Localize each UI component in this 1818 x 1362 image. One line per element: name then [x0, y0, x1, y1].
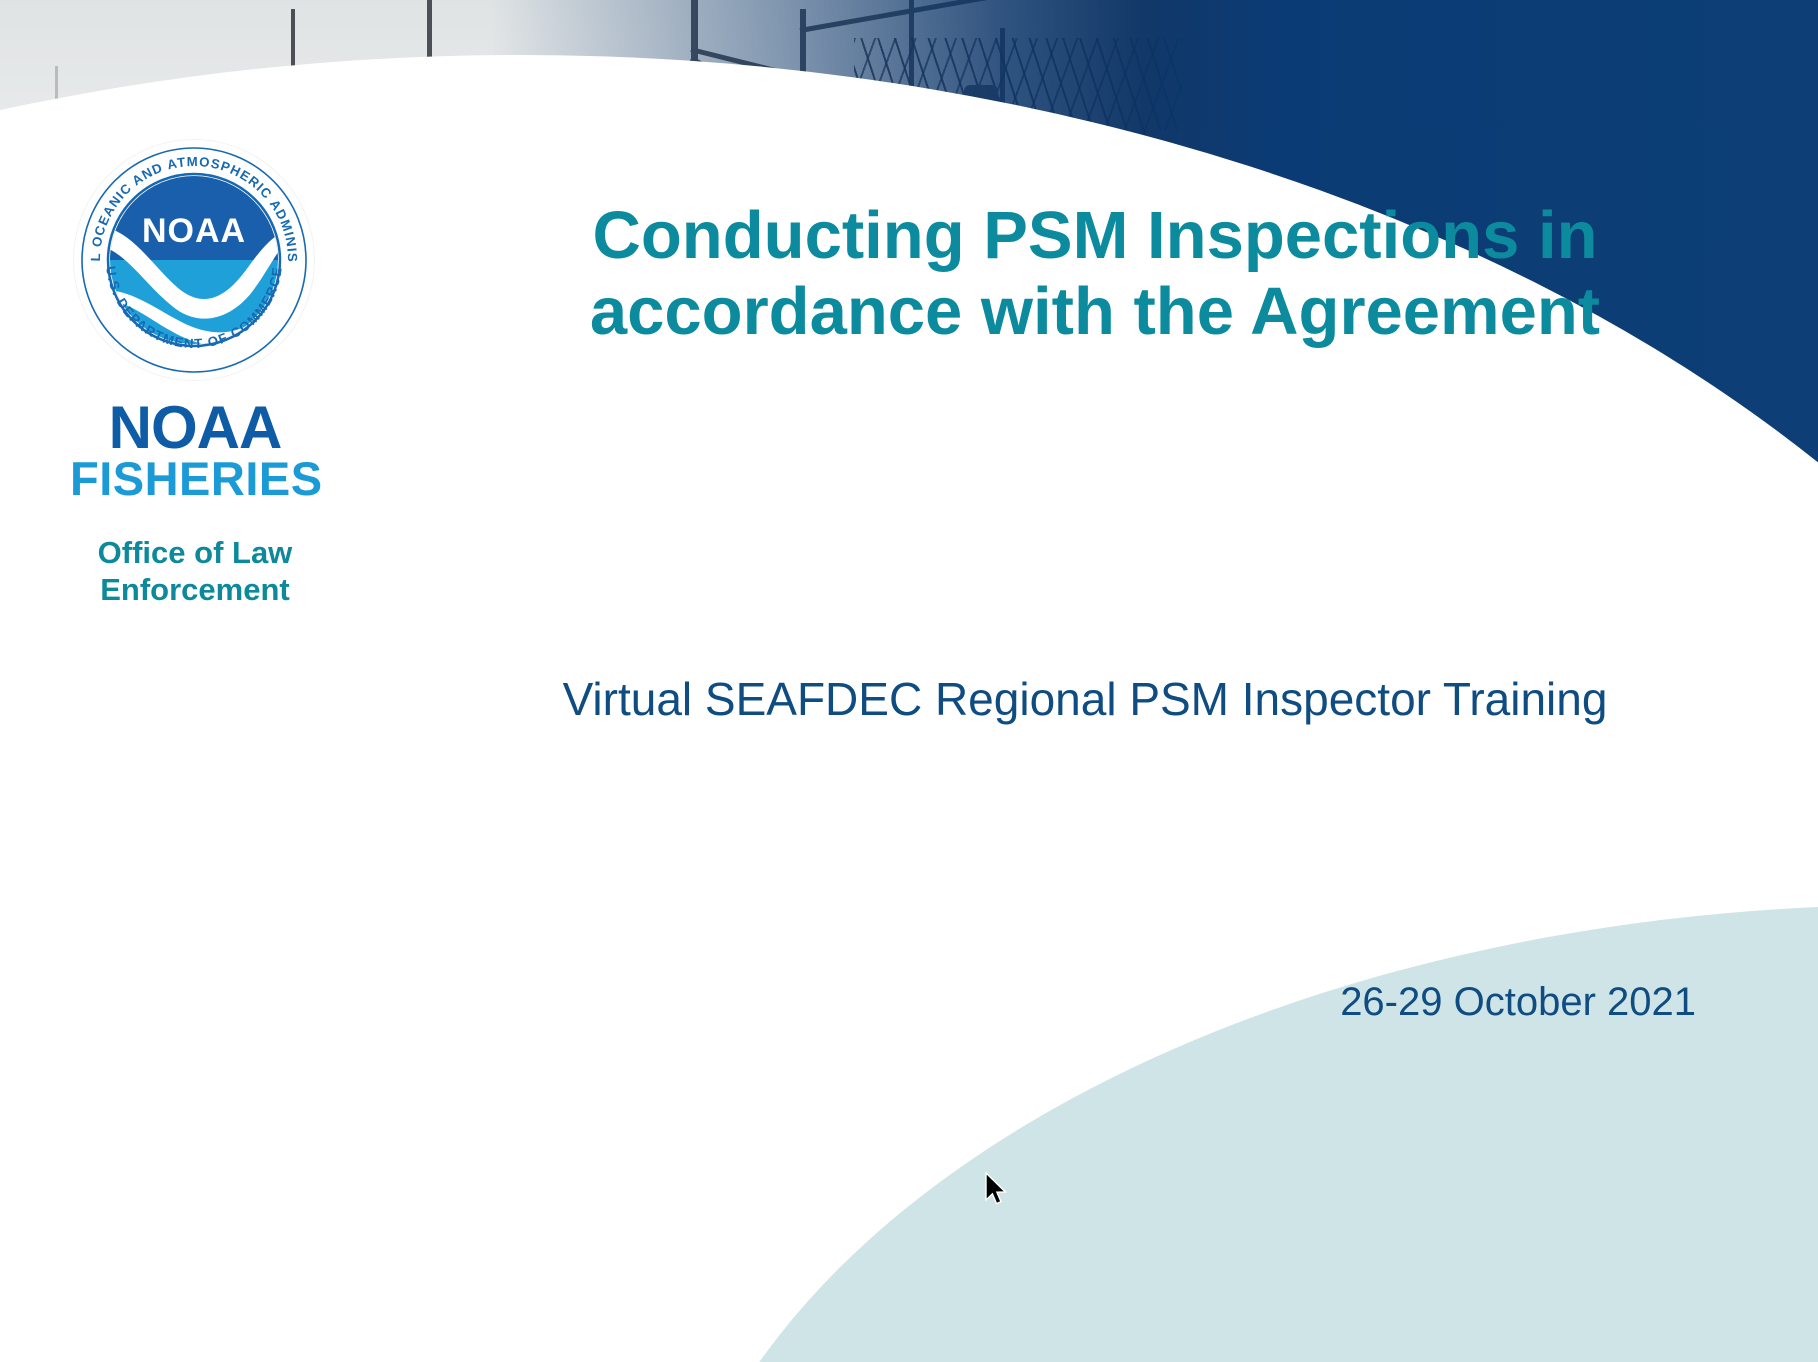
wordmark-fisheries: FISHERIES [70, 457, 320, 500]
wordmark-noaa: NOAA [70, 400, 320, 455]
noaa-fisheries-wordmark: NOAA FISHERIES [70, 400, 320, 500]
slide-date: 26-29 October 2021 [420, 980, 1740, 1025]
noaa-seal-icon: NOAA NATIONAL OCEANIC AND ATMOSPHERIC AD… [74, 140, 314, 380]
slide-subtitle: Virtual SEAFDEC Regional PSM Inspector T… [420, 672, 1750, 727]
presentation-slide: MUZON 23087 [0, 0, 1818, 1362]
noaa-seal-logo: NOAA NATIONAL OCEANIC AND ATMOSPHERIC AD… [74, 140, 314, 380]
slide-title: Conducting PSM Inspections in accordance… [450, 198, 1740, 349]
office-of-law-enforcement-label: Office of Law Enforcement [60, 535, 330, 608]
svg-text:NOAA: NOAA [142, 212, 246, 250]
branding-column: NOAA NATIONAL OCEANIC AND ATMOSPHERIC AD… [0, 0, 380, 1362]
mouse-cursor-icon [984, 1172, 1010, 1210]
bottom-accent-curve [660, 905, 1818, 1362]
